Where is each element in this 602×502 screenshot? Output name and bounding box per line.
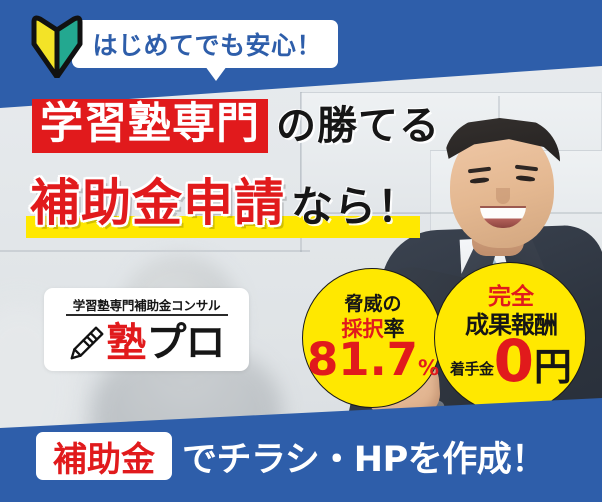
footer-boxed-text: 補助金 — [53, 432, 155, 481]
badge-adoption-number: 81.7 — [307, 333, 418, 386]
wall-seam — [0, 250, 310, 252]
logo-name-red: 塾 — [107, 323, 147, 363]
badge-success-fee: 完全 成果報酬 着手金 0 円 — [434, 262, 586, 414]
pencil-icon — [69, 325, 105, 361]
headline-highlight-box: 学習塾専門 — [32, 99, 268, 153]
badge-adoption-rate: 脅威の 採択率 81.7% — [302, 268, 442, 408]
badge-fee-prefix: 着手金 — [450, 358, 494, 379]
logo-subtitle: 学習塾専門補助金コンサル — [44, 295, 249, 314]
logo-name-black: プロ — [147, 323, 225, 363]
badge-fee-number: 0 — [494, 335, 534, 388]
footer-highlight-box: 補助金 — [34, 430, 174, 482]
tagline-bubble: はじめてでも安心！ — [72, 20, 338, 68]
ad-banner: はじめてでも安心！ 学習塾専門 の勝てる 補助金申請 なら！ 学習塾専門補助金コ… — [0, 0, 602, 502]
badge-fee-value-row: 着手金 0 円 — [435, 335, 587, 388]
logo-wordmark: 塾 プロ — [44, 318, 249, 368]
headline-line-1-tail: の勝てる — [276, 106, 440, 146]
headline-line-2: 補助金申請 なら！ — [30, 166, 420, 228]
headline-line-1: 学習塾専門 の勝てる — [32, 96, 440, 156]
logo-divider — [66, 314, 228, 316]
badge-adoption-value: 81.7% — [303, 337, 443, 382]
badge-adoption-line-1: 脅威の — [303, 289, 443, 316]
beginner-mark-wakaba-icon — [30, 14, 84, 78]
headline-line-2-tail: なら！ — [291, 186, 420, 228]
brand-logo-card[interactable]: 学習塾専門補助金コンサル 塾 プロ — [44, 288, 249, 371]
tagline-text: はじめてでも安心！ — [72, 20, 338, 68]
headline-line-2-red: 補助金申請 — [30, 178, 285, 228]
footer-text: でチラシ・HPを作成！ — [182, 430, 546, 482]
bubble-tail — [205, 66, 227, 81]
nose — [496, 188, 510, 204]
badge-fee-unit: 円 — [534, 348, 572, 386]
